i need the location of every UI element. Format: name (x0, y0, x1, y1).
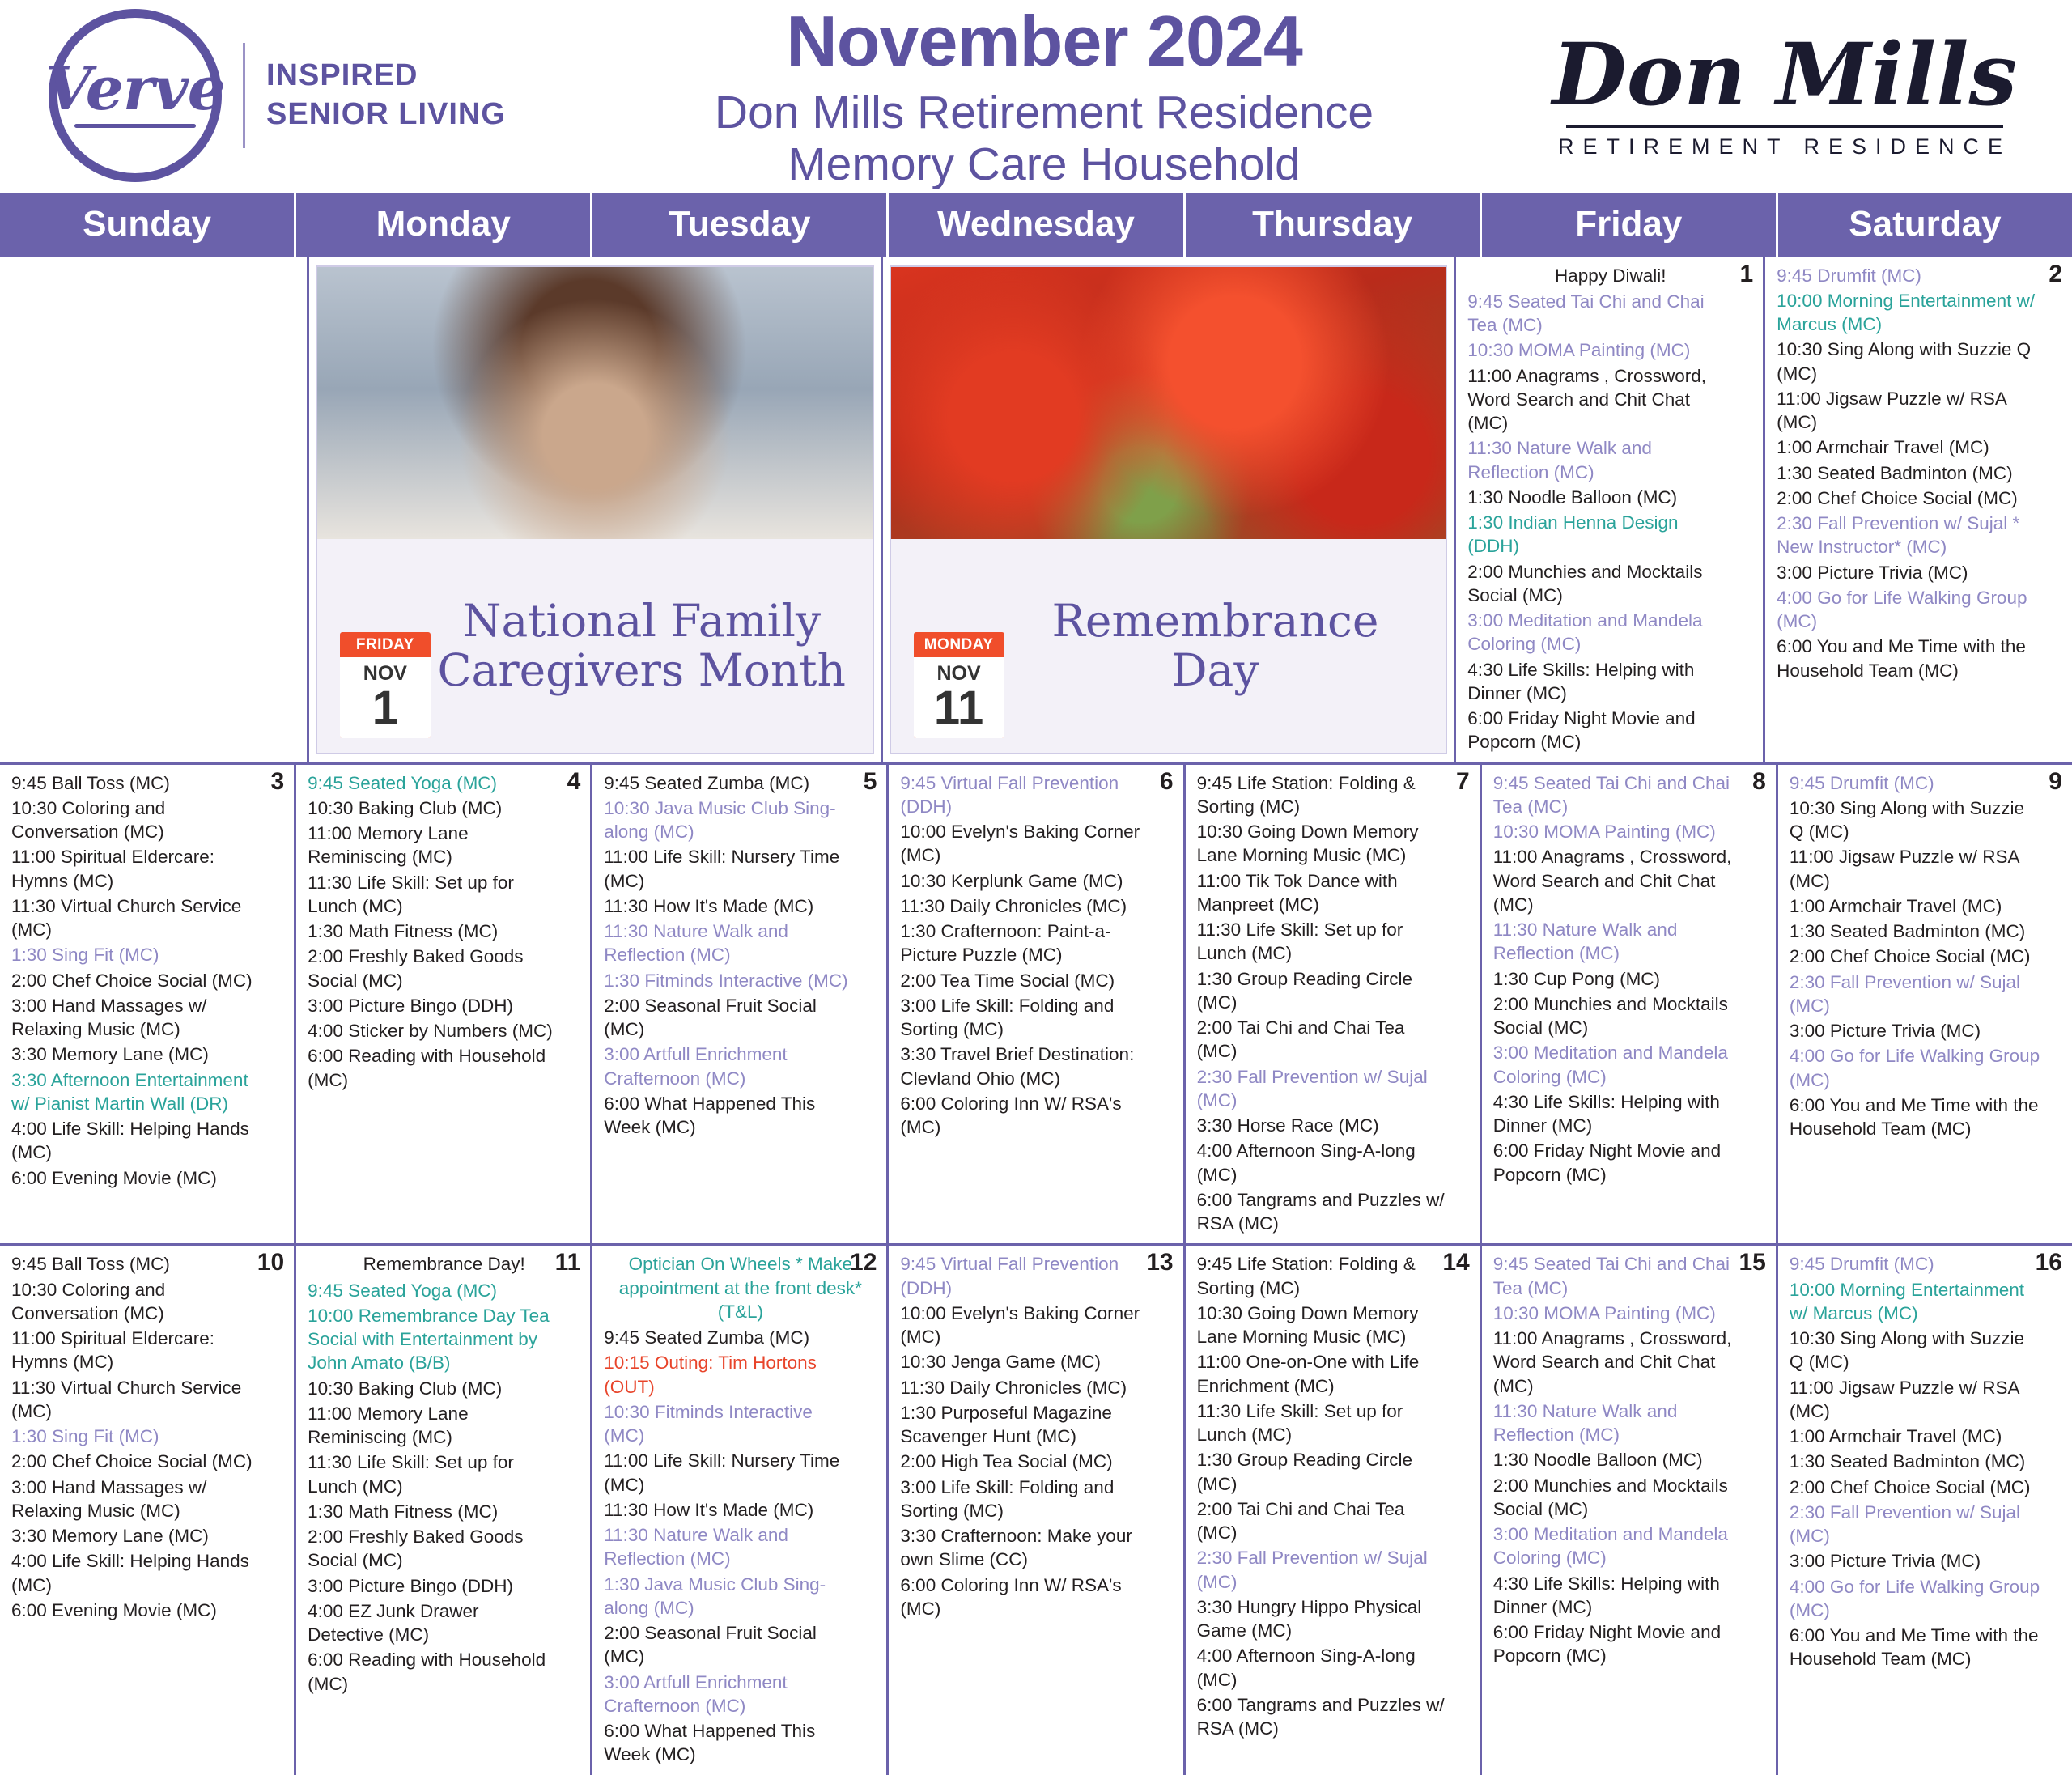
calendar-event[interactable]: 10:30 MOMA Painting (MC) (1467, 338, 1753, 362)
calendar-event[interactable]: 9:45 Seated Zumba (MC) (604, 1326, 877, 1349)
calendar-event[interactable]: 11:30 Nature Walk and Reflection (MC) (1467, 436, 1753, 484)
banner-photo (317, 267, 873, 539)
calendar-event[interactable]: 3:30 Memory Lane (MC) (11, 1524, 284, 1548)
calendar-event[interactable]: 3:00 Picture Trivia (MC) (1790, 1549, 2062, 1573)
banner-title-line2: Caregivers Month (437, 646, 846, 695)
calendar-event[interactable]: 1:30 Group Reading Circle (MC) (1197, 967, 1470, 1015)
calendar-event[interactable]: 4:30 Life Skills: Helping with Dinner (M… (1493, 1572, 1766, 1620)
banner-date-chip: MONDAYNOV11 (914, 632, 1004, 738)
calendar-event[interactable]: 6:00 Evening Movie (MC) (11, 1599, 284, 1622)
calendar-event[interactable]: 10:30 Baking Club (MC) (308, 796, 580, 820)
calendar-event[interactable]: 10:00 Morning Entertainment w/ Marcus (M… (1790, 1278, 2062, 1326)
calendar-event[interactable]: 3:00 Life Skill: Folding and Sorting (MC… (900, 1476, 1173, 1523)
calendar-event[interactable]: 3:00 Picture Trivia (MC) (1777, 561, 2062, 584)
calendar-event[interactable]: 11:00 Memory Lane Reminiscing (MC) (308, 822, 580, 869)
calendar-day-cell[interactable]: 79:45 Life Station: Folding & Sorting (M… (1186, 765, 1482, 1244)
calendar-event[interactable]: 2:30 Fall Prevention w/ Sujal (MC) (1790, 1501, 2062, 1548)
calendar-event[interactable]: 1:30 Sing Fit (MC) (11, 1425, 284, 1448)
calendar-event[interactable]: 11:30 Nature Walk and Reflection (MC) (1493, 1399, 1766, 1447)
banner-photo (891, 267, 1446, 539)
brand-tagline: INSPIRED SENIOR LIVING (266, 57, 506, 134)
banner-chip-dow: MONDAY (914, 632, 1004, 657)
day-number: 16 (2036, 1249, 2062, 1276)
calendar-event[interactable]: 6:00 Friday Night Movie and Popcorn (MC) (1467, 707, 1753, 754)
calendar-event[interactable]: 4:00 Go for Life Walking Group (MC) (1790, 1575, 2062, 1623)
calendar-event[interactable]: 9:45 Seated Tai Chi and Chai Tea (MC) (1493, 771, 1766, 819)
calendar-grid: National FamilyCaregivers MonthFRIDAYNOV… (0, 257, 2072, 1775)
calendar-event[interactable]: 3:00 Meditation and Mandela Coloring (MC… (1493, 1041, 1766, 1089)
calendar-event[interactable]: 1:30 Seated Badminton (MC) (1777, 461, 2062, 485)
calendar-event[interactable]: 3:30 Horse Race (MC) (1197, 1114, 1470, 1137)
calendar-day-cell[interactable]: 39:45 Ball Toss (MC)10:30 Coloring and C… (0, 765, 296, 1244)
calendar-event[interactable]: 2:00 Chef Choice Social (MC) (11, 1450, 284, 1473)
calendar-event[interactable]: 4:30 Life Skills: Helping with Dinner (M… (1493, 1090, 1766, 1138)
calendar-event[interactable]: 3:00 Hand Massages w/ Relaxing Music (MC… (11, 994, 284, 1042)
don-mills-logo-subtitle: RETIREMENT RESIDENCE (1546, 134, 2023, 159)
calendar-event[interactable]: 6:00 Tangrams and Puzzles w/ RSA (MC) (1197, 1188, 1470, 1236)
calendar-event[interactable]: 3:00 Artfull Enrichment Crafternoon (MC) (604, 1042, 877, 1090)
calendar-event[interactable]: 11:30 Nature Walk and Reflection (MC) (604, 1523, 877, 1571)
calendar-event[interactable]: 1:30 Math Fitness (MC) (308, 919, 580, 943)
day-of-week-header: Sunday Monday Tuesday Wednesday Thursday… (0, 191, 2072, 257)
page-header: Verve INSPIRED SENIOR LIVING November 20… (0, 0, 2072, 191)
calendar-day-cell[interactable]: 149:45 Life Station: Folding & Sorting (… (1186, 1246, 1482, 1774)
day-number: 5 (864, 768, 877, 796)
day-number: 14 (1442, 1249, 1469, 1276)
dow-thursday: Thursday (1186, 193, 1482, 257)
calendar-event[interactable]: 1:00 Armchair Travel (MC) (1790, 894, 2062, 918)
calendar-event[interactable]: 1:30 Purposeful Magazine Scavenger Hunt … (900, 1401, 1173, 1449)
calendar-day-cell[interactable]: 11Remembrance Day!9:45 Seated Yoga (MC)1… (296, 1246, 592, 1774)
calendar-event[interactable]: 9:45 Life Station: Folding & Sorting (MC… (1197, 1252, 1470, 1300)
calendar-event[interactable]: 11:30 Nature Walk and Reflection (MC) (1493, 918, 1766, 966)
day-number: 6 (1160, 768, 1174, 796)
calendar-event[interactable]: 9:45 Ball Toss (MC) (11, 1252, 284, 1276)
calendar-event[interactable]: 6:00 Tangrams and Puzzles w/ RSA (MC) (1197, 1693, 1470, 1741)
calendar-event[interactable]: 6:00 You and Me Time with the Household … (1790, 1624, 2062, 1671)
calendar-event[interactable]: 3:00 Artfull Enrichment Crafternoon (MC) (604, 1671, 877, 1718)
day-number: 7 (1456, 768, 1470, 796)
calendar-event[interactable]: 4:00 EZ Junk Drawer Detective (MC) (308, 1599, 580, 1647)
calendar-week-row: 109:45 Ball Toss (MC)10:30 Coloring and … (0, 1243, 2072, 1774)
don-mills-logo: Don Mills RETIREMENT RESIDENCE (1546, 32, 2048, 159)
calendar-event[interactable]: 3:00 Picture Bingo (DDH) (308, 1574, 580, 1598)
banner-date-chip: FRIDAYNOV1 (340, 632, 431, 738)
calendar-event[interactable]: 10:30 Kerplunk Game (MC) (900, 869, 1173, 893)
day-number: 11 (555, 1249, 581, 1276)
calendar-event[interactable]: 1:30 Math Fitness (MC) (308, 1500, 580, 1523)
calendar-cell-empty (0, 257, 309, 762)
brand-divider (243, 43, 245, 148)
calendar-day-cell[interactable]: 159:45 Seated Tai Chi and Chai Tea (MC)1… (1482, 1246, 1778, 1774)
calendar-day-cell[interactable]: 49:45 Seated Yoga (MC)10:30 Baking Club … (296, 765, 592, 1244)
dow-friday: Friday (1482, 193, 1778, 257)
calendar-event[interactable]: 3:30 Crafternoon: Make your own Slime (C… (900, 1524, 1173, 1572)
day-number: 9 (2049, 768, 2062, 796)
calendar-event[interactable]: 3:00 Picture Trivia (MC) (1790, 1019, 2062, 1042)
calendar-event[interactable]: 1:30 Crafternoon: Paint-a-Picture Puzzle… (900, 919, 1173, 967)
calendar-event[interactable]: 10:30 Coloring and Conversation (MC) (11, 1278, 284, 1326)
calendar-event[interactable]: 2:30 Fall Prevention w/ Sujal (MC) (1790, 970, 2062, 1018)
calendar-event[interactable]: 9:45 Drumfit (MC) (1790, 1252, 2062, 1276)
day-note: Happy Diwali! (1467, 264, 1753, 287)
calendar-event[interactable]: 2:00 Chef Choice Social (MC) (1790, 945, 2062, 968)
calendar-event[interactable]: 11:00 Jigsaw Puzzle w/ RSA (MC) (1790, 845, 2062, 893)
calendar-event[interactable]: 10:30 Going Down Memory Lane Morning Mus… (1197, 820, 1470, 868)
calendar-event[interactable]: 1:30 Noodle Balloon (MC) (1493, 1448, 1766, 1471)
brand-tagline-line2: SENIOR LIVING (266, 96, 506, 134)
residence-name-line2: Memory Care Household (542, 139, 1546, 191)
calendar-event[interactable]: 10:00 Morning Entertainment w/ Marcus (M… (1777, 289, 2062, 337)
brand-tagline-line1: INSPIRED (266, 57, 506, 96)
calendar-event[interactable]: 11:30 Virtual Church Service (MC) (11, 894, 284, 942)
calendar-day-cell[interactable]: 1Happy Diwali!9:45 Seated Tai Chi and Ch… (1456, 257, 1765, 762)
day-number: 1 (1739, 261, 1753, 288)
calendar-event[interactable]: 10:30 Jenga Game (MC) (900, 1350, 1173, 1374)
calendar-event[interactable]: 2:00 Tai Chi and Chai Tea (MC) (1197, 1016, 1470, 1064)
calendar-event[interactable]: 9:45 Drumfit (MC) (1777, 264, 2062, 287)
feature-banner: National FamilyCaregivers MonthFRIDAYNOV… (316, 265, 874, 754)
calendar-event[interactable]: 10:30 MOMA Painting (MC) (1493, 820, 1766, 843)
calendar-week-row: National FamilyCaregivers MonthFRIDAYNOV… (0, 257, 2072, 762)
calendar-event[interactable]: 11:30 Daily Chronicles (MC) (900, 894, 1173, 918)
calendar-event[interactable]: 6:00 Reading with Household (MC) (308, 1044, 580, 1092)
don-mills-script-wordmark: Don Mills (1546, 32, 2023, 117)
calendar-event[interactable]: 11:00 Anagrams , Crossword, Word Search … (1467, 364, 1753, 435)
calendar-event[interactable]: 11:00 Memory Lane Reminiscing (MC) (308, 1402, 580, 1450)
calendar-event[interactable]: 9:45 Seated Tai Chi and Chai Tea (MC) (1493, 1252, 1766, 1300)
calendar-event[interactable]: 11:30 Life Skill: Set up for Lunch (MC) (1197, 918, 1470, 966)
calendar-event[interactable]: 10:30 Sing Along with Suzzie Q (MC) (1777, 338, 2062, 385)
calendar-day-cell[interactable]: 89:45 Seated Tai Chi and Chai Tea (MC)10… (1482, 765, 1778, 1244)
banner-chip-day: 11 (914, 686, 1004, 738)
calendar-event[interactable]: 9:45 Virtual Fall Prevention (DDH) (900, 1252, 1173, 1300)
calendar-event[interactable]: 6:00 Coloring Inn W/ RSA's (MC) (900, 1092, 1173, 1140)
calendar-event[interactable]: 6:00 Coloring Inn W/ RSA's (MC) (900, 1573, 1173, 1621)
calendar-event[interactable]: 11:00 Anagrams , Crossword, Word Search … (1493, 845, 1766, 916)
calendar-event[interactable]: 1:00 Armchair Travel (MC) (1790, 1425, 2062, 1448)
calendar-event[interactable]: 1:30 Seated Badminton (MC) (1790, 1450, 2062, 1473)
calendar-event[interactable]: 11:30 Life Skill: Set up for Lunch (MC) (308, 871, 580, 919)
calendar-event[interactable]: 2:00 Munchies and Mocktails Social (MC) (1493, 992, 1766, 1040)
calendar-event[interactable]: 4:00 Life Skill: Helping Hands (MC) (11, 1549, 284, 1597)
calendar-event[interactable]: 6:00 What Happened This Week (MC) (604, 1092, 877, 1140)
calendar-event[interactable]: 2:00 Chef Choice Social (MC) (1790, 1476, 2062, 1499)
calendar-day-cell[interactable]: 59:45 Seated Zumba (MC)10:30 Java Music … (592, 765, 889, 1244)
calendar-event[interactable]: 3:00 Meditation and Mandela Coloring (MC… (1467, 609, 1753, 656)
calendar-event[interactable]: 2:00 Freshly Baked Goods Social (MC) (308, 1525, 580, 1573)
calendar-event[interactable]: 3:00 Life Skill: Folding and Sorting (MC… (900, 994, 1173, 1042)
calendar-event[interactable]: 6:00 You and Me Time with the Household … (1790, 1093, 2062, 1141)
calendar-event[interactable]: 1:30 Indian Henna Design (DDH) (1467, 511, 1753, 558)
feature-banner-cell[interactable]: National FamilyCaregivers MonthFRIDAYNOV… (309, 257, 883, 762)
calendar-event[interactable]: 2:30 Fall Prevention w/ Sujal (MC) (1197, 1065, 1470, 1113)
calendar-event[interactable]: 10:30 Sing Along with Suzzie Q (MC) (1790, 1327, 2062, 1374)
calendar-event[interactable]: 1:00 Armchair Travel (MC) (1777, 435, 2062, 459)
calendar-day-cell[interactable]: 69:45 Virtual Fall Prevention (DDH)10:00… (889, 765, 1185, 1244)
calendar-event[interactable]: 11:30 Life Skill: Set up for Lunch (MC) (308, 1450, 580, 1498)
calendar-event[interactable]: 9:45 Seated Yoga (MC) (308, 1279, 580, 1302)
day-note: Optician On Wheels * Make appointment at… (604, 1252, 877, 1323)
calendar-event[interactable]: 11:30 How It's Made (MC) (604, 894, 877, 918)
calendar-page: Verve INSPIRED SENIOR LIVING November 20… (0, 0, 2072, 1340)
calendar-event[interactable]: 9:45 Seated Tai Chi and Chai Tea (MC) (1467, 290, 1753, 338)
feature-banner: RemembranceDayMONDAYNOV11 (890, 265, 1448, 754)
day-number: 4 (567, 768, 581, 796)
don-mills-logo-rule (1566, 125, 2003, 128)
banner-title-line1: National Family (437, 597, 846, 646)
calendar-event[interactable]: 2:00 High Tea Social (MC) (900, 1450, 1173, 1473)
calendar-event[interactable]: 3:30 Afternoon Entertainment w/ Pianist … (11, 1068, 284, 1116)
verve-underline (74, 124, 196, 128)
calendar-event[interactable]: 3:00 Hand Massages w/ Relaxing Music (MC… (11, 1476, 284, 1523)
calendar-event[interactable]: 2:00 Seasonal Fruit Social (MC) (604, 1621, 877, 1669)
calendar-event[interactable]: 4:00 Afternoon Sing-A-long (MC) (1197, 1644, 1470, 1692)
calendar-event[interactable]: 9:45 Drumfit (MC) (1790, 771, 2062, 795)
calendar-event[interactable]: 3:30 Hungry Hippo Physical Game (MC) (1197, 1595, 1470, 1643)
verve-brand: Verve INSPIRED SENIOR LIVING (24, 9, 542, 182)
calendar-event[interactable]: 10:00 Remembrance Day Tea Social with En… (308, 1304, 580, 1375)
calendar-event[interactable]: 2:30 Fall Prevention w/ Sujal (MC) (1197, 1546, 1470, 1594)
calendar-event[interactable]: 6:00 Evening Movie (MC) (11, 1166, 284, 1190)
day-note: Remembrance Day! (308, 1252, 580, 1276)
calendar-event[interactable]: 10:30 Baking Club (MC) (308, 1377, 580, 1400)
dow-sunday: Sunday (0, 193, 296, 257)
calendar-event[interactable]: 1:30 Seated Badminton (MC) (1790, 919, 2062, 943)
calendar-event[interactable]: 3:30 Memory Lane (MC) (11, 1042, 284, 1066)
calendar-event[interactable]: 2:00 Tai Chi and Chai Tea (MC) (1197, 1497, 1470, 1545)
calendar-event[interactable]: 11:00 Anagrams , Crossword, Word Search … (1493, 1327, 1766, 1398)
calendar-event[interactable]: 11:30 Life Skill: Set up for Lunch (MC) (1197, 1399, 1470, 1447)
banner-chip-day: 1 (340, 686, 431, 738)
calendar-event[interactable]: 10:00 Evelyn's Baking Corner (MC) (900, 1302, 1173, 1349)
calendar-event[interactable]: 9:45 Seated Zumba (MC) (604, 771, 877, 795)
calendar-event[interactable]: 2:00 Freshly Baked Goods Social (MC) (308, 945, 580, 992)
calendar-event[interactable]: 4:00 Go for Life Walking Group (MC) (1790, 1044, 2062, 1092)
banner-chip-dow: FRIDAY (340, 632, 431, 657)
dow-monday: Monday (296, 193, 592, 257)
calendar-event[interactable]: 4:00 Life Skill: Helping Hands (MC) (11, 1117, 284, 1165)
calendar-event[interactable]: 9:45 Seated Yoga (MC) (308, 771, 580, 795)
calendar-event[interactable]: 11:00 Spiritual Eldercare: Hymns (MC) (11, 1327, 284, 1374)
calendar-event[interactable]: 2:00 Chef Choice Social (MC) (11, 969, 284, 992)
calendar-day-cell[interactable]: 109:45 Ball Toss (MC)10:30 Coloring and … (0, 1246, 296, 1774)
calendar-event[interactable]: 2:30 Fall Prevention w/ Sujal * New Inst… (1777, 512, 2062, 559)
calendar-event[interactable]: 11:00 Jigsaw Puzzle w/ RSA (MC) (1790, 1376, 2062, 1424)
title-block: November 2024 Don Mills Retirement Resid… (542, 0, 1546, 191)
calendar-day-cell[interactable]: 99:45 Drumfit (MC)10:30 Sing Along with … (1778, 765, 2072, 1244)
calendar-event[interactable]: 10:00 Evelyn's Baking Corner (MC) (900, 820, 1173, 868)
calendar-event[interactable]: 3:30 Travel Brief Destination: Clevland … (900, 1042, 1173, 1090)
day-number: 15 (1739, 1249, 1765, 1276)
calendar-event[interactable]: 1:30 Group Reading Circle (MC) (1197, 1448, 1470, 1496)
calendar-event[interactable]: 1:30 Java Music Club Sing-along (MC) (604, 1573, 877, 1620)
calendar-event[interactable]: 3:00 Picture Bingo (DDH) (308, 994, 580, 1017)
calendar-day-cell[interactable]: 169:45 Drumfit (MC)10:00 Morning Enterta… (1778, 1246, 2072, 1774)
calendar-event[interactable]: 1:30 Noodle Balloon (MC) (1467, 486, 1753, 509)
calendar-event[interactable]: 2:00 Seasonal Fruit Social (MC) (604, 994, 877, 1042)
calendar-event[interactable]: 10:30 Coloring and Conversation (MC) (11, 796, 284, 844)
calendar-day-cell[interactable]: 12Optician On Wheels * Make appointment … (592, 1246, 889, 1774)
verve-wordmark: Verve (45, 59, 225, 119)
verve-logo-icon: Verve (49, 9, 222, 182)
calendar-event[interactable]: 6:00 Friday Night Movie and Popcorn (MC) (1493, 1620, 1766, 1668)
calendar-event[interactable]: 11:00 One-on-One with Life Enrichment (M… (1197, 1350, 1470, 1398)
calendar-event[interactable]: 9:45 Virtual Fall Prevention (DDH) (900, 771, 1173, 819)
day-number: 8 (1752, 768, 1766, 796)
day-number: 13 (1146, 1249, 1173, 1276)
calendar-event[interactable]: 9:45 Life Station: Folding & Sorting (MC… (1197, 771, 1470, 819)
calendar-event[interactable]: 10:30 Java Music Club Sing-along (MC) (604, 796, 877, 844)
calendar-event[interactable]: 6:00 Reading with Household (MC) (308, 1648, 580, 1696)
dow-wednesday: Wednesday (889, 193, 1185, 257)
calendar-event[interactable]: 2:00 Munchies and Mocktails Social (MC) (1467, 560, 1753, 608)
banner-title-line1: Remembrance (1051, 597, 1378, 646)
day-number: 10 (257, 1249, 284, 1276)
feature-banner-cell[interactable]: RemembranceDayMONDAYNOV11 (883, 257, 1457, 762)
calendar-event[interactable]: 2:00 Tea Time Social (MC) (900, 969, 1173, 992)
calendar-event[interactable]: 11:30 Daily Chronicles (MC) (900, 1376, 1173, 1399)
calendar-event[interactable]: 4:00 Go for Life Walking Group (MC) (1777, 586, 2062, 634)
calendar-event[interactable]: 10:30 Going Down Memory Lane Morning Mus… (1197, 1302, 1470, 1349)
calendar-event[interactable]: 4:00 Afternoon Sing-A-long (MC) (1197, 1139, 1470, 1187)
calendar-day-cell[interactable]: 29:45 Drumfit (MC)10:00 Morning Entertai… (1765, 257, 2072, 762)
calendar-event[interactable]: 1:30 Sing Fit (MC) (11, 943, 284, 966)
calendar-event[interactable]: 4:30 Life Skills: Helping with Dinner (M… (1467, 658, 1753, 706)
calendar-event[interactable]: 6:00 You and Me Time with the Household … (1777, 635, 2062, 682)
calendar-event[interactable]: 4:00 Sticker by Numbers (MC) (308, 1019, 580, 1042)
banner-title: RemembranceDay (946, 597, 1390, 694)
calendar-event[interactable]: 9:45 Ball Toss (MC) (11, 771, 284, 795)
calendar-event[interactable]: 1:30 Cup Pong (MC) (1493, 967, 1766, 991)
dow-saturday: Saturday (1778, 193, 2072, 257)
calendar-event[interactable]: 2:00 Munchies and Mocktails Social (MC) (1493, 1474, 1766, 1522)
page-title: November 2024 (542, 0, 1546, 83)
calendar-event[interactable]: 11:00 Spiritual Eldercare: Hymns (MC) (11, 845, 284, 893)
calendar-event[interactable]: 10:30 MOMA Painting (MC) (1493, 1302, 1766, 1325)
calendar-event[interactable]: 11:30 Nature Walk and Reflection (MC) (604, 919, 877, 967)
calendar-event[interactable]: 11:00 Tik Tok Dance with Manpreet (MC) (1197, 869, 1470, 917)
calendar-event[interactable]: 10:30 Sing Along with Suzzie Q (MC) (1790, 796, 2062, 844)
calendar-event[interactable]: 3:00 Meditation and Mandela Coloring (MC… (1493, 1522, 1766, 1570)
calendar-event[interactable]: 2:00 Chef Choice Social (MC) (1777, 486, 2062, 510)
calendar-week-row: 39:45 Ball Toss (MC)10:30 Coloring and C… (0, 762, 2072, 1244)
calendar-event[interactable]: 11:00 Jigsaw Puzzle w/ RSA (MC) (1777, 387, 2062, 435)
dow-tuesday: Tuesday (592, 193, 889, 257)
day-number: 12 (850, 1249, 877, 1276)
calendar-event[interactable]: 10:30 Fitminds Interactive (MC) (604, 1400, 877, 1448)
calendar-event[interactable]: 11:00 Life Skill: Nursery Time (MC) (604, 1449, 877, 1497)
calendar-event[interactable]: 1:30 Fitminds Interactive (MC) (604, 969, 877, 992)
calendar-event[interactable]: 11:30 How It's Made (MC) (604, 1498, 877, 1522)
calendar-event[interactable]: 6:00 Friday Night Movie and Popcorn (MC) (1493, 1139, 1766, 1187)
calendar-day-cell[interactable]: 139:45 Virtual Fall Prevention (DDH)10:0… (889, 1246, 1185, 1774)
day-number: 2 (2049, 261, 2062, 288)
day-number: 3 (270, 768, 284, 796)
calendar-event[interactable]: 11:30 Virtual Church Service (MC) (11, 1376, 284, 1424)
calendar-event[interactable]: 10:15 Outing: Tim Hortons (OUT) (604, 1351, 877, 1399)
calendar-event[interactable]: 6:00 What Happened This Week (MC) (604, 1719, 877, 1767)
calendar-event[interactable]: 11:00 Life Skill: Nursery Time (MC) (604, 845, 877, 893)
residence-name-line1: Don Mills Retirement Residence (542, 87, 1546, 139)
banner-title-line2: Day (1051, 646, 1378, 695)
